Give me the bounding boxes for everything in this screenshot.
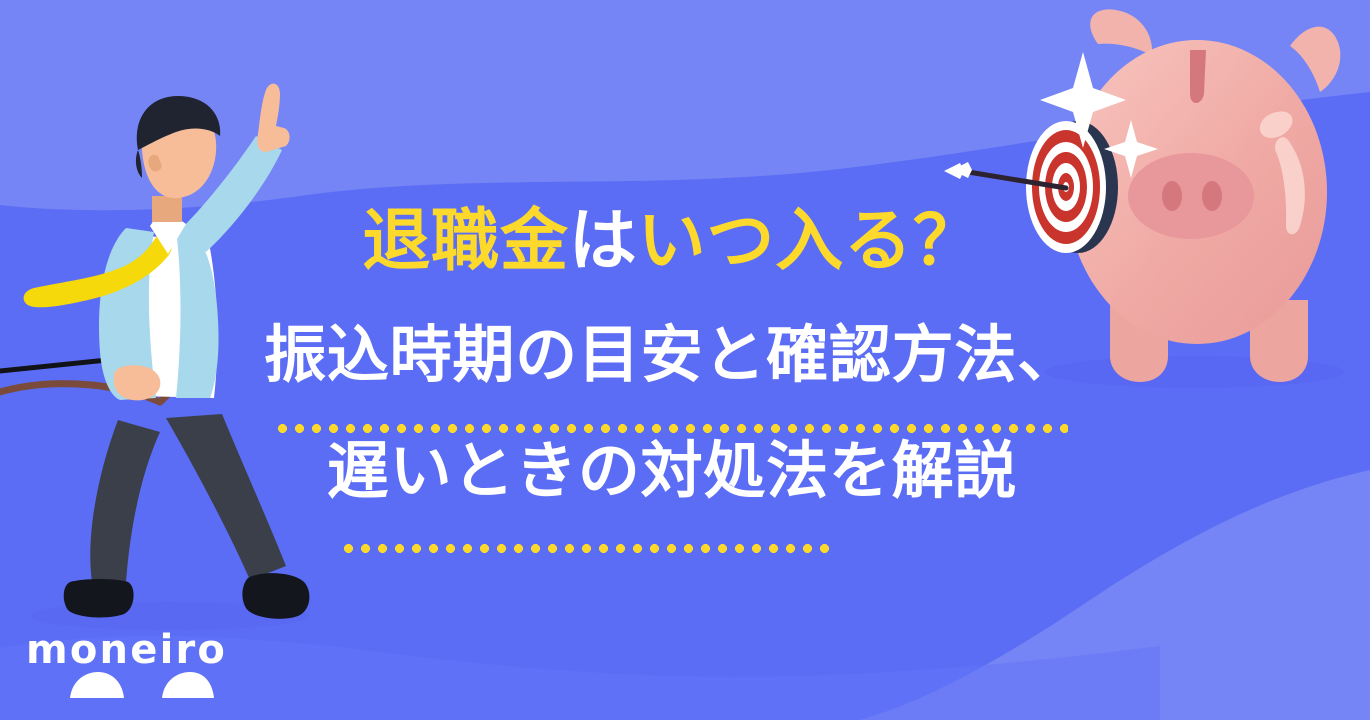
title-line-1-segment-3: いつ入る？ xyxy=(638,202,982,281)
dotted-underline-1 xyxy=(274,424,1068,433)
logo-arcs-icon xyxy=(22,630,222,702)
title-line-2: 振込時期の目安と確認方法、 xyxy=(262,320,1082,398)
hero-banner: 退職金はいつ入る？ 振込時期の目安と確認方法、 遅いときの対処法を解説 mone… xyxy=(0,0,1370,720)
title-block: 退職金はいつ入る？ 振込時期の目安と確認方法、 遅いときの対処法を解説 xyxy=(262,206,1082,514)
moneiro-logo[interactable]: moneiro xyxy=(22,630,222,702)
title-line-1: 退職金はいつ入る？ xyxy=(262,206,1082,288)
title-line-1-segment-1: 退職金 xyxy=(362,202,568,281)
title-line-3: 遅いときの対処法を解説 xyxy=(262,436,1082,514)
title-line-1-segment-2: は xyxy=(569,202,638,281)
dotted-underline-2 xyxy=(340,544,836,553)
